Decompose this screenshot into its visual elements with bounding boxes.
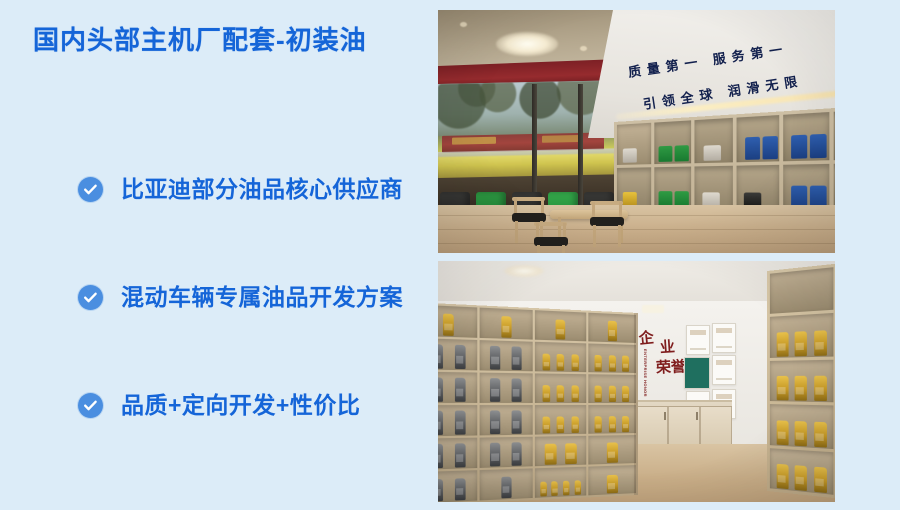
certificate-frame	[712, 323, 736, 353]
shelf-cell	[479, 405, 533, 435]
shelf-cell	[737, 115, 780, 162]
shelf-cell	[535, 342, 586, 372]
shelf-cell	[694, 118, 733, 163]
shelf-cell	[654, 120, 691, 164]
certificate-frame	[684, 357, 710, 389]
shelf-cell	[588, 435, 636, 465]
wall-calligraphy-subtitle: ENTERPRISE HONOR	[643, 349, 648, 397]
ceiling-lamp-icon	[504, 265, 544, 277]
shelf-cell	[834, 109, 835, 160]
list-item[interactable]: 混动车辆专属油品开发方案	[78, 258, 418, 336]
shelf-cell	[770, 448, 834, 495]
list-item-label: 混动车辆专属油品开发方案	[121, 286, 403, 309]
wall-calligraphy-char: 业	[659, 340, 675, 356]
page-title: 国内头部主机厂配套-初装油	[33, 20, 367, 57]
shelf-cell	[588, 343, 636, 373]
check-circle-icon	[78, 177, 103, 202]
shelf-cell	[479, 373, 533, 403]
shelf-cell	[588, 465, 636, 495]
shelf-cell	[784, 112, 830, 161]
ceiling-spotlight	[580, 46, 587, 51]
cabinet-door[interactable]	[700, 406, 732, 448]
shelf-cell	[588, 313, 636, 343]
shelf-cell	[588, 374, 636, 403]
shelf-cell	[535, 373, 586, 403]
bullet-list: 比亚迪部分油品核心供应商 混动车辆专属油品开发方案 品质+定向开发+性价比	[78, 150, 418, 444]
shelf-cell	[479, 340, 533, 371]
list-item-label: 比亚迪部分油品核心供应商	[121, 178, 403, 201]
shelf-cell	[588, 405, 636, 434]
shelf-cell	[438, 372, 477, 403]
ceiling-spotlight	[460, 22, 467, 27]
shelf-cell	[535, 310, 586, 341]
left-display-shelf	[438, 302, 638, 502]
shelf-grid	[438, 302, 638, 502]
list-item[interactable]: 比亚迪部分油品核心供应商	[78, 150, 418, 228]
shelf-cell	[438, 470, 477, 502]
list-item[interactable]: 品质+定向开发+性价比	[78, 366, 418, 444]
shelf-cell	[770, 404, 834, 448]
shelf-cell	[770, 313, 834, 357]
shelf-cell	[654, 167, 691, 210]
shelf-cell	[438, 305, 477, 338]
lubricant-showroom-photo: 质量第一 服务第一 引领全球 润滑无限	[438, 10, 835, 253]
cabinet-handle	[696, 412, 698, 420]
slide-root: 国内头部主机厂配套-初装油 比亚迪部分油品核心供应商 混动车辆专属油品开发方案	[0, 0, 900, 510]
ceiling-panel-light	[642, 305, 664, 313]
shelf-grid	[767, 264, 835, 499]
shelf-cell	[617, 123, 651, 165]
shelf-cell	[479, 437, 533, 468]
product-display-room-photo: 企 业 荣誉 ENTERPRISE HONOR	[438, 261, 835, 502]
shelf-cell	[535, 436, 586, 466]
shelf-cell	[438, 405, 477, 436]
check-circle-icon	[78, 393, 103, 418]
shelf-cell	[535, 467, 586, 498]
ceiling-lamp-icon	[496, 32, 558, 56]
street-shop-sign	[452, 137, 496, 145]
wall-calligraphy-char: 荣誉	[656, 360, 687, 377]
street-shop-sign	[542, 135, 580, 143]
shelf-cell	[479, 468, 533, 500]
shelf-cell	[479, 308, 533, 340]
cabinet-handle	[664, 412, 666, 420]
shelf-cell	[438, 338, 477, 370]
shelf-cell	[770, 360, 834, 403]
showroom-floor	[438, 205, 835, 253]
shelf-cell	[535, 405, 586, 435]
right-display-shelf	[767, 264, 835, 499]
wall-calligraphy-char: 企	[638, 331, 655, 347]
shelf-cell	[694, 166, 733, 211]
shelf-cell	[438, 438, 477, 470]
shelf-cell	[770, 267, 834, 314]
check-circle-icon	[78, 285, 103, 310]
list-item-label: 品质+定向开发+性价比	[121, 394, 360, 417]
certificate-frame	[712, 355, 736, 385]
room-doorway-edge	[634, 313, 638, 495]
certificate-frame	[686, 325, 710, 355]
